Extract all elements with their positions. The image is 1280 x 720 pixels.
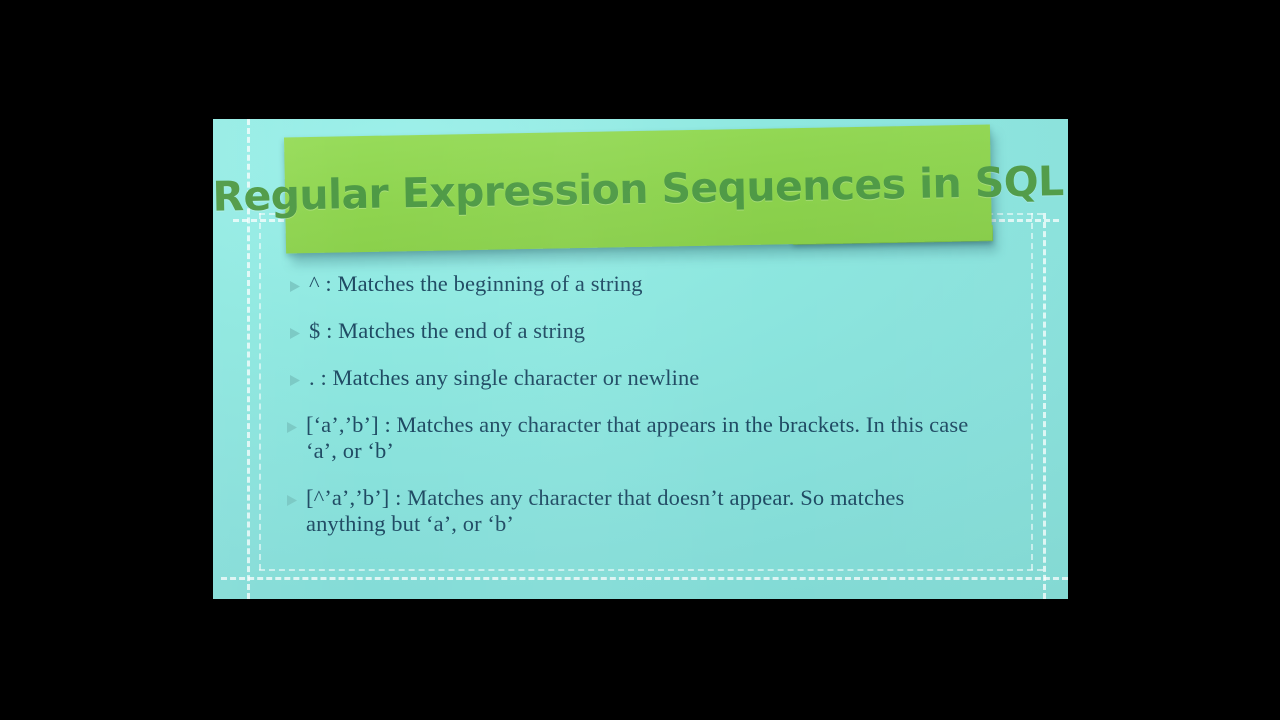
guide-line-bottom-outer: [221, 577, 1068, 580]
triangle-right-icon: [289, 327, 305, 340]
list-item: [‘a’,’b’] : Matches any character that a…: [289, 412, 989, 464]
list-item-label: ^ : Matches the beginning of a string: [309, 271, 989, 297]
triangle-right-icon: [286, 494, 302, 507]
guide-line-bottom-inner: [259, 569, 1043, 571]
list-item: $ : Matches the end of a string: [289, 318, 989, 344]
list-item: ^ : Matches the beginning of a string: [289, 271, 989, 297]
guide-line-left-inner: [259, 213, 261, 570]
list-item-label: [‘a’,’b’] : Matches any character that a…: [306, 412, 989, 464]
guide-line-right-inner: [1031, 213, 1033, 570]
list-item-label: . : Matches any single character or newl…: [309, 365, 989, 391]
triangle-right-icon: [289, 374, 305, 387]
list-item-label: $ : Matches the end of a string: [309, 318, 989, 344]
guide-line-right-outer: [1043, 213, 1046, 599]
video-stage: Regular Expression Sequences in SQL ^ : …: [0, 0, 1280, 720]
bullet-list: ^ : Matches the beginning of a string $ …: [289, 271, 989, 558]
title-banner: Regular Expression Sequences in SQL: [285, 131, 997, 263]
list-item: [^’a’,’b’] : Matches any character that …: [289, 485, 989, 537]
list-item: . : Matches any single character or newl…: [289, 365, 989, 391]
triangle-right-icon: [289, 280, 305, 293]
triangle-right-icon: [286, 421, 302, 434]
list-item-label: [^’a’,’b’] : Matches any character that …: [306, 485, 989, 537]
slide-canvas: Regular Expression Sequences in SQL ^ : …: [213, 119, 1068, 599]
page-title: Regular Expression Sequences in SQL: [284, 125, 992, 254]
